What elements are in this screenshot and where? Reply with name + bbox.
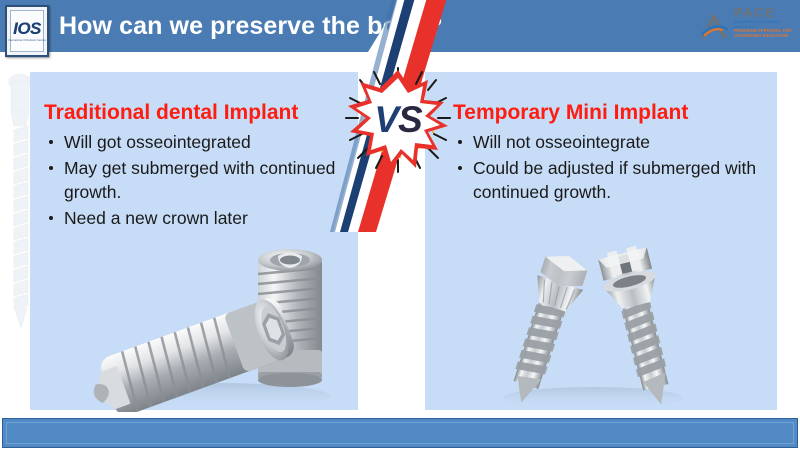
versus-badge: VS xyxy=(340,62,456,178)
pace-arc-icon xyxy=(698,8,732,42)
pace-logo: PACE ACADEMY OF GENERAL DENTISTRY PROGRA… xyxy=(698,4,794,48)
slide-canvas: IOS International Orthodontic Service Ho… xyxy=(0,0,800,450)
ios-logo-subtitle: International Orthodontic Service xyxy=(8,39,46,42)
versus-label: VS xyxy=(340,62,456,178)
pace-line-2: PROGRAM APPROVAL FOR CONTINUING EDUCATIO… xyxy=(734,28,794,38)
list-item: Need a new crown later xyxy=(40,206,350,230)
versus-letter-s: S xyxy=(398,62,422,178)
slide-title: How can we preserve the bone? xyxy=(59,8,619,44)
list-item: Will not osseointegrate xyxy=(449,130,769,154)
list-item: Will got osseointegrated xyxy=(40,130,350,154)
panel-left-title: Traditional dental Implant xyxy=(44,100,298,126)
footer-bar xyxy=(2,418,798,448)
panel-right-bullets: Will not osseointegrate Could be adjuste… xyxy=(449,130,769,206)
ios-logo: IOS International Orthodontic Service xyxy=(5,5,49,57)
panel-left-bullets: Will got osseointegrated May get submerg… xyxy=(40,130,350,232)
versus-letter-v: V xyxy=(374,62,398,178)
list-item: May get submerged with continued growth. xyxy=(40,156,350,204)
panel-right-title: Temporary Mini Implant xyxy=(453,100,688,126)
footer-bevel xyxy=(6,422,794,444)
pace-wordmark: PACE xyxy=(734,6,776,19)
traditional-dental-implant-photo xyxy=(62,246,348,412)
temporary-mini-implant-photo xyxy=(486,240,700,412)
ios-logo-mark: IOS xyxy=(13,20,41,37)
list-item: Could be adjusted if submerged with cont… xyxy=(449,156,769,204)
